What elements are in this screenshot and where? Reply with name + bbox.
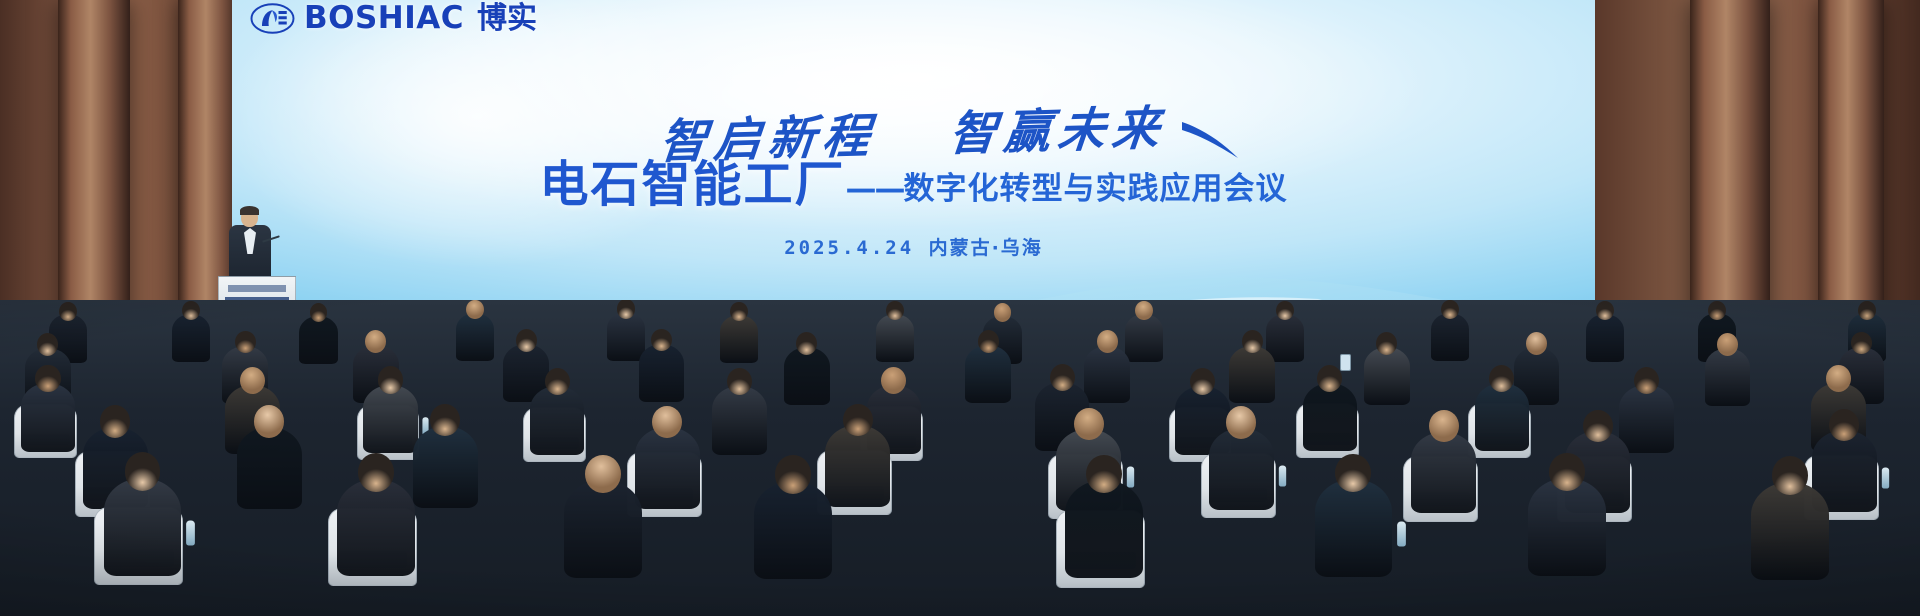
- attendee-phone: [1340, 354, 1351, 371]
- audience-head: [100, 405, 130, 437]
- audience-head: [1276, 301, 1294, 320]
- audience-head: [1429, 410, 1459, 442]
- boshiac-logo-icon: [250, 2, 295, 35]
- audience-head: [775, 455, 811, 494]
- title-dash: ——: [846, 174, 904, 209]
- event-dateline: 2025.4.24 内蒙古·乌海: [232, 233, 1595, 260]
- audience-head: [235, 331, 256, 354]
- audience-head: [545, 368, 570, 395]
- audience-head: [886, 301, 904, 320]
- audience-head: [1376, 332, 1397, 355]
- audience-head: [37, 333, 58, 356]
- audience-head: [1317, 365, 1342, 392]
- audience-head: [1226, 406, 1256, 438]
- audience-head: [1526, 332, 1547, 355]
- audience-member: [104, 478, 182, 576]
- audience-head: [1335, 454, 1371, 493]
- audience-head: [730, 302, 748, 321]
- audience-head: [254, 405, 284, 437]
- brush-swoosh-icon: [1180, 118, 1242, 162]
- audience-member: [825, 425, 890, 507]
- audience-head: [358, 453, 394, 492]
- audience-member: [607, 312, 645, 360]
- audience-head: [843, 404, 873, 436]
- audience-member: [1411, 432, 1476, 514]
- audience-member: [1315, 479, 1393, 577]
- audience-member: [413, 426, 478, 508]
- speaker-hair: [240, 206, 259, 215]
- audience-member: [876, 314, 914, 362]
- water-bottle: [1882, 467, 1889, 488]
- audience-head: [796, 332, 817, 355]
- audience-area: [0, 300, 1920, 616]
- audience-head: [1050, 364, 1075, 391]
- audience-head: [182, 301, 200, 320]
- audience-head: [1086, 455, 1122, 494]
- audience-member: [1705, 348, 1751, 406]
- audience-head: [1634, 367, 1659, 394]
- audience-member: [1586, 314, 1624, 362]
- audience-head: [1858, 301, 1876, 320]
- audience-head: [1772, 456, 1808, 495]
- audience-member: [1229, 346, 1275, 404]
- slogan-spacer: [899, 151, 925, 152]
- audience-member: [639, 344, 685, 402]
- audience-head: [1135, 301, 1153, 320]
- audience-head: [1190, 368, 1215, 395]
- audience-head: [1851, 332, 1872, 355]
- audience-head: [35, 365, 60, 392]
- audience-member: [1084, 346, 1130, 404]
- audience-head: [617, 300, 635, 319]
- audience-member: [1209, 428, 1274, 510]
- audience-member: [784, 347, 830, 405]
- audience-head: [378, 366, 403, 393]
- audience-member: [564, 480, 642, 578]
- audience-member: [172, 314, 210, 362]
- audience-head: [59, 302, 77, 321]
- water-bottle: [1126, 466, 1133, 487]
- audience-head: [1829, 409, 1859, 441]
- audience-head: [978, 330, 999, 353]
- audience-member: [635, 427, 700, 509]
- slogan-phrase-2: 智赢未来: [947, 101, 1169, 162]
- water-bottle: [1279, 465, 1286, 486]
- audience-member: [530, 386, 585, 455]
- audience-member: [965, 345, 1011, 403]
- audience-head: [1549, 453, 1585, 492]
- audience-member: [1751, 482, 1829, 580]
- brand-name-latin: BOSHIAC: [304, 3, 464, 34]
- audience-member: [1065, 480, 1143, 578]
- brand-name-chinese: 博实: [477, 4, 537, 34]
- audience-member: [337, 479, 415, 577]
- audience-member: [1475, 383, 1530, 452]
- event-location: 内蒙古·乌海: [929, 237, 1043, 259]
- audience-head: [1596, 301, 1614, 320]
- event-date: 2025.4.24: [784, 237, 914, 259]
- podium-sign-slogan: [228, 285, 286, 292]
- conference-title: 电石智能工厂 —— 数字化转型与实践应用会议: [232, 160, 1595, 209]
- audience-head: [516, 329, 537, 352]
- audience-member: [1303, 383, 1358, 452]
- audience-head: [1074, 408, 1104, 440]
- audience-head: [585, 455, 621, 494]
- audience-member: [720, 315, 758, 363]
- conference-photo: BOSHIAC 博实 智启新程 智赢未来 电石智能工厂 —— 数字化转型与实践应…: [0, 0, 1920, 616]
- audience-head: [125, 452, 161, 491]
- title-main-text: 电石智能工厂: [539, 160, 845, 209]
- audience-member: [299, 316, 337, 364]
- audience-head: [1242, 330, 1263, 353]
- brand-logo: BOSHIAC 博实: [250, 2, 537, 35]
- speaker-presenter: [228, 208, 272, 280]
- audience-head: [466, 300, 484, 319]
- audience-member: [456, 313, 494, 361]
- audience-member: [712, 386, 767, 455]
- water-bottle: [186, 520, 195, 545]
- audience-member: [754, 481, 832, 579]
- audience-member: [363, 385, 418, 454]
- audience-member: [21, 383, 76, 452]
- audience-member: [1431, 313, 1469, 361]
- audience-head: [1489, 365, 1514, 392]
- audience-member: [1619, 385, 1674, 454]
- audience-head: [1708, 301, 1726, 320]
- audience-head: [652, 406, 682, 438]
- audience-member: [1364, 347, 1410, 405]
- audience-member: [237, 427, 302, 509]
- audience-head: [1441, 300, 1459, 319]
- audience-head: [1717, 333, 1738, 356]
- audience-member: [1125, 314, 1163, 362]
- water-bottle: [1397, 522, 1406, 547]
- audience-head: [1583, 410, 1613, 442]
- audience-member: [1528, 478, 1606, 576]
- title-subtitle-text: 数字化转型与实践应用会议: [904, 174, 1288, 209]
